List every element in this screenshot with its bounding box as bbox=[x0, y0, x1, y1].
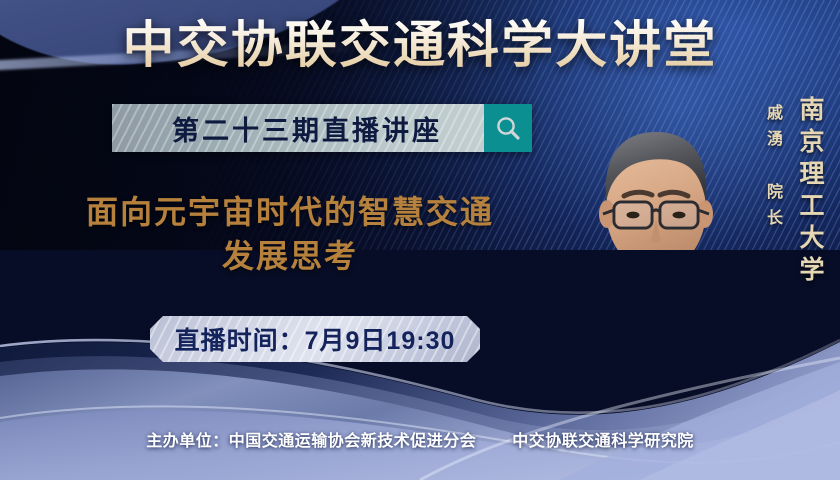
page-title: 中交协联交通科学大讲堂 bbox=[0, 16, 840, 74]
lecture-title: 面向元宇宙时代的智慧交通 发展思考 bbox=[40, 190, 540, 278]
organizer-secondary: 中交协联交通科学研究院 bbox=[512, 433, 694, 450]
organizer-primary: 主办单位：中国交通运输协会新技术促进分会 bbox=[146, 433, 476, 450]
search-icon[interactable] bbox=[484, 104, 532, 152]
episode-label: 第二十三期直播讲座 bbox=[112, 109, 484, 148]
poster-canvas: 中交协联交通科学大讲堂 第二十三期直播讲座 面向元宇宙时代的智慧交通 发展思考 … bbox=[0, 0, 840, 480]
broadcast-time-badge: 直播时间：7月9日19:30 bbox=[150, 316, 480, 362]
episode-banner: 第二十三期直播讲座 bbox=[112, 104, 532, 152]
speaker-organization: 南京理工大学 bbox=[792, 96, 828, 288]
lecture-title-line-1: 面向元宇宙时代的智慧交通 bbox=[40, 190, 540, 234]
lecture-title-line-2: 发展思考 bbox=[40, 234, 540, 278]
speaker-name-title: 戚湧 院长 bbox=[760, 104, 784, 235]
organizers-footer: 主办单位：中国交通运输协会新技术促进分会 中交协联交通科学研究院 bbox=[0, 427, 840, 451]
broadcast-time-label: 直播时间：7月9日19:30 bbox=[175, 321, 456, 357]
